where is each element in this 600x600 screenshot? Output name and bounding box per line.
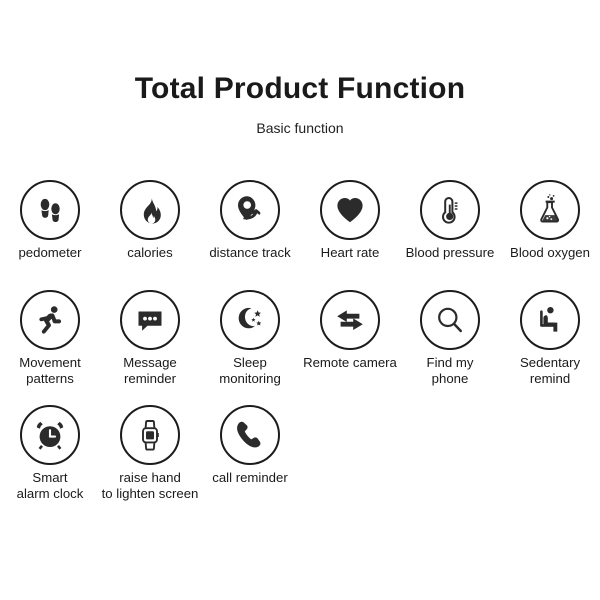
feature-row-1: pedometer calories <box>0 180 600 290</box>
footprints-icon <box>34 194 66 226</box>
heart-icon <box>334 194 366 226</box>
feature-icon-circle <box>220 405 280 465</box>
page-subtitle: Basic function <box>0 120 600 136</box>
feature-row-2: Movement patterns <box>0 290 600 405</box>
feature-icon-circle <box>220 180 280 240</box>
feature-label: Find my phone <box>396 355 504 387</box>
feature-icon-circle <box>20 290 80 350</box>
feature-item-sleep-monitoring[interactable]: Sleep monitoring <box>200 290 300 387</box>
feature-item-heart-rate[interactable]: Heart rate <box>300 180 400 261</box>
flask-icon <box>534 194 566 226</box>
feature-label: Message reminder <box>96 355 204 387</box>
feature-row-3: Smart alarm clock <box>0 405 600 515</box>
feature-label: Remote camera <box>296 355 404 371</box>
feature-label: Movement patterns <box>0 355 104 387</box>
feature-label: Sedentary remind <box>496 355 600 387</box>
running-person-icon <box>34 304 66 336</box>
feature-item-call-reminder[interactable]: call reminder <box>200 405 300 486</box>
feature-label: Smart alarm clock <box>0 470 104 502</box>
feature-icon-circle <box>320 290 380 350</box>
feature-item-blood-pressure[interactable]: Blood pressure <box>400 180 500 261</box>
feature-icon-circle <box>520 180 580 240</box>
thermometer-icon <box>434 194 466 226</box>
alarm-clock-icon <box>34 419 66 451</box>
magnifier-icon <box>434 304 466 336</box>
feature-item-pedometer[interactable]: pedometer <box>0 180 100 261</box>
feature-icon-circle <box>20 405 80 465</box>
moon-stars-icon <box>234 304 266 336</box>
flame-icon <box>134 194 166 226</box>
feature-label: Blood oxygen <box>496 245 600 261</box>
chat-bubble-icon <box>134 304 166 336</box>
smartwatch-icon <box>134 419 166 451</box>
product-function-poster: Total Product Function Basic function <box>0 0 600 600</box>
feature-item-calories[interactable]: calories <box>100 180 200 261</box>
feature-item-find-my-phone[interactable]: Find my phone <box>400 290 500 387</box>
feature-icon-circle <box>120 180 180 240</box>
feature-icon-circle <box>520 290 580 350</box>
feature-label: calories <box>96 245 204 261</box>
page-title: Total Product Function <box>0 72 600 105</box>
feature-label: Heart rate <box>296 245 404 261</box>
feature-icon-circle <box>20 180 80 240</box>
feature-label: distance track <box>196 245 304 261</box>
phone-handset-icon <box>234 419 266 451</box>
feature-label: Sleep monitoring <box>196 355 304 387</box>
two-way-arrows-icon <box>334 304 366 336</box>
feature-icon-circle <box>120 405 180 465</box>
feature-icon-circle <box>220 290 280 350</box>
map-pin-path-icon <box>233 193 267 227</box>
feature-icon-circle <box>320 180 380 240</box>
feature-item-message-reminder[interactable]: Message reminder <box>100 290 200 387</box>
feature-label: raise hand to lighten screen <box>90 470 210 502</box>
feature-label: Blood pressure <box>396 245 504 261</box>
feature-item-remote-camera[interactable]: Remote camera <box>300 290 400 371</box>
feature-grid: pedometer calories <box>0 180 600 515</box>
feature-item-blood-oxygen[interactable]: Blood oxygen <box>500 180 600 261</box>
feature-label: pedometer <box>0 245 104 261</box>
feature-label: call reminder <box>196 470 304 486</box>
feature-item-smart-alarm-clock[interactable]: Smart alarm clock <box>0 405 100 502</box>
feature-item-distance-track[interactable]: distance track <box>200 180 300 261</box>
feature-icon-circle <box>420 290 480 350</box>
feature-item-sedentary-remind[interactable]: Sedentary remind <box>500 290 600 387</box>
seated-person-icon <box>534 304 566 336</box>
feature-icon-circle <box>120 290 180 350</box>
feature-item-movement-patterns[interactable]: Movement patterns <box>0 290 100 387</box>
feature-item-raise-hand-to-lighten-screen[interactable]: raise hand to lighten screen <box>100 405 200 502</box>
feature-icon-circle <box>420 180 480 240</box>
